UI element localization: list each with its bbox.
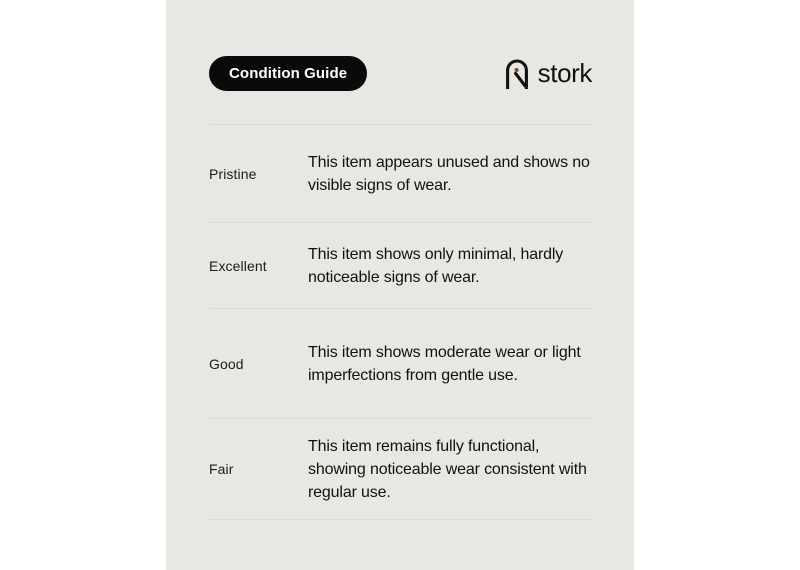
condition-label: Fair (209, 461, 308, 477)
table-row: Pristine This item appears unused and sh… (209, 125, 592, 222)
condition-guide-pill[interactable]: Condition Guide (209, 56, 367, 91)
stork-arch-mark-icon (505, 59, 529, 89)
condition-label: Pristine (209, 166, 308, 182)
condition-description: This item shows moderate wear or light i… (308, 341, 592, 387)
table-row: Good This item shows moderate wear or li… (209, 309, 592, 418)
condition-guide-table: Pristine This item appears unused and sh… (209, 124, 592, 520)
table-row: Excellent This item shows only minimal, … (209, 223, 592, 308)
brand-wordmark: stork (538, 60, 592, 88)
condition-guide-card: Condition Guide stork Pristine This item… (166, 0, 634, 570)
condition-label: Excellent (209, 258, 308, 274)
condition-description: This item appears unused and shows no vi… (308, 151, 592, 197)
row-divider (209, 519, 592, 520)
card-header: Condition Guide stork (209, 56, 592, 91)
condition-description: This item remains fully functional, show… (308, 435, 592, 504)
brand-lockup: stork (505, 57, 592, 91)
table-row: Fair This item remains fully functional,… (209, 419, 592, 519)
condition-label: Good (209, 356, 308, 372)
condition-description: This item shows only minimal, hardly not… (308, 243, 592, 289)
